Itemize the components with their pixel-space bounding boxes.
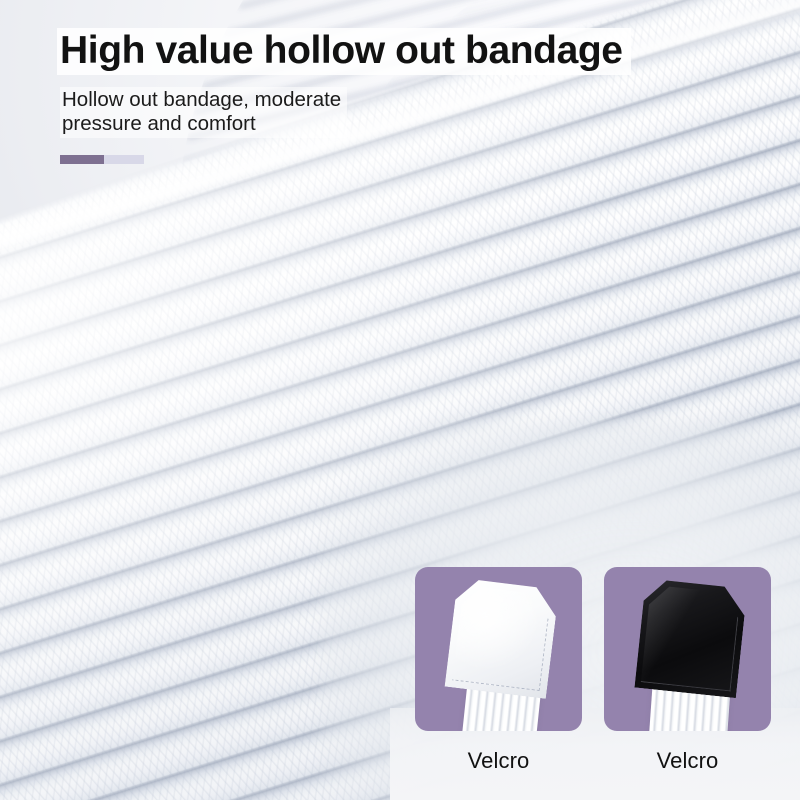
thumbnail-image-black[interactable] (604, 567, 771, 731)
headline-block: High value hollow out bandage Hollow out… (0, 0, 800, 164)
thumbnail-caption: Velcro (415, 748, 582, 774)
thumbnail-velcro-white[interactable]: Velcro (415, 567, 582, 774)
page-subtitle: Hollow out bandage, moderate pressure an… (62, 88, 341, 136)
thumbnail-velcro-black[interactable]: Velcro (604, 567, 771, 774)
subtitle-container: Hollow out bandage, moderate pressure an… (60, 87, 347, 138)
accent-bar-dark-segment (60, 155, 104, 164)
page-title: High value hollow out bandage (60, 30, 623, 71)
accent-bar-light-segment (104, 155, 144, 164)
thumbnail-caption: Velcro (604, 748, 771, 774)
thumbnail-row: Velcro Velcro (415, 567, 771, 774)
velcro-tab-black (632, 576, 747, 698)
thumbnail-image-white[interactable] (415, 567, 582, 731)
velcro-tab-white (442, 575, 559, 699)
product-poster: High value hollow out bandage Hollow out… (0, 0, 800, 800)
accent-bar (60, 155, 144, 164)
title-container: High value hollow out bandage (57, 28, 631, 75)
